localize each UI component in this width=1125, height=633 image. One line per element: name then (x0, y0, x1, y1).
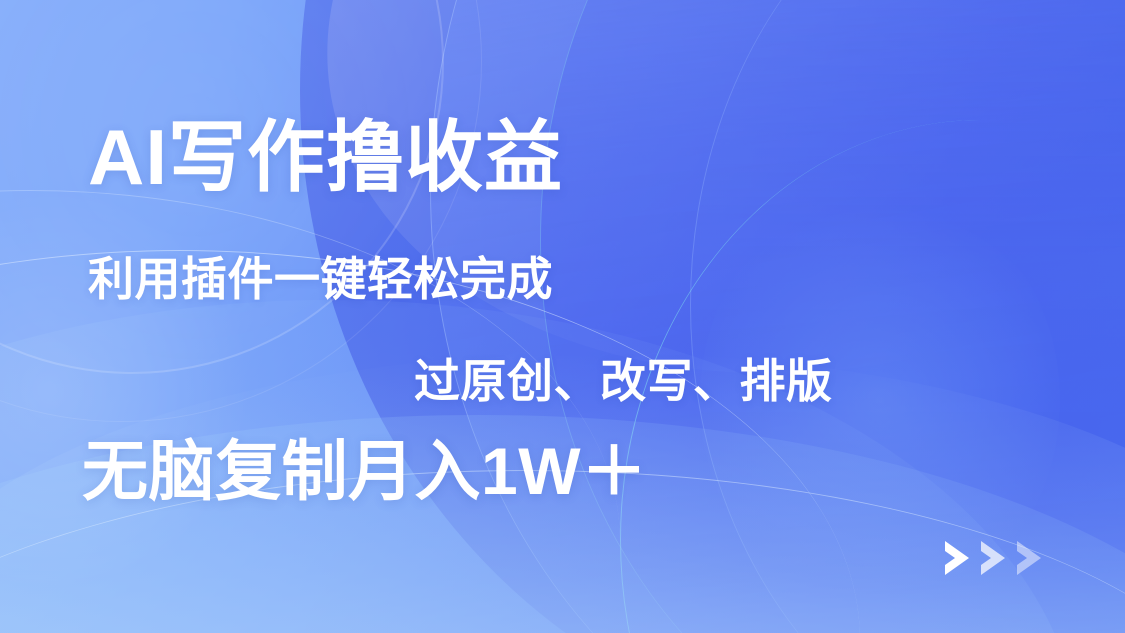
subtitle-line-2: 过原创、改写、排版 (414, 358, 833, 404)
promo-poster: AI写作撸收益 利用插件一键轻松完成 过原创、改写、排版 无脑复制月入1W＋ (0, 0, 1125, 633)
subtitle-line-1: 利用插件一键轻松完成 (88, 256, 553, 302)
subtitle-line-3: 无脑复制月入1W＋ (82, 438, 648, 504)
page-title: AI写作撸收益 (88, 118, 563, 196)
chevron-arrow-group (941, 538, 1047, 578)
chevron-right-icon-3 (1013, 538, 1047, 578)
chevron-right-icon-2 (977, 538, 1011, 578)
chevron-right-icon-1 (941, 538, 975, 578)
